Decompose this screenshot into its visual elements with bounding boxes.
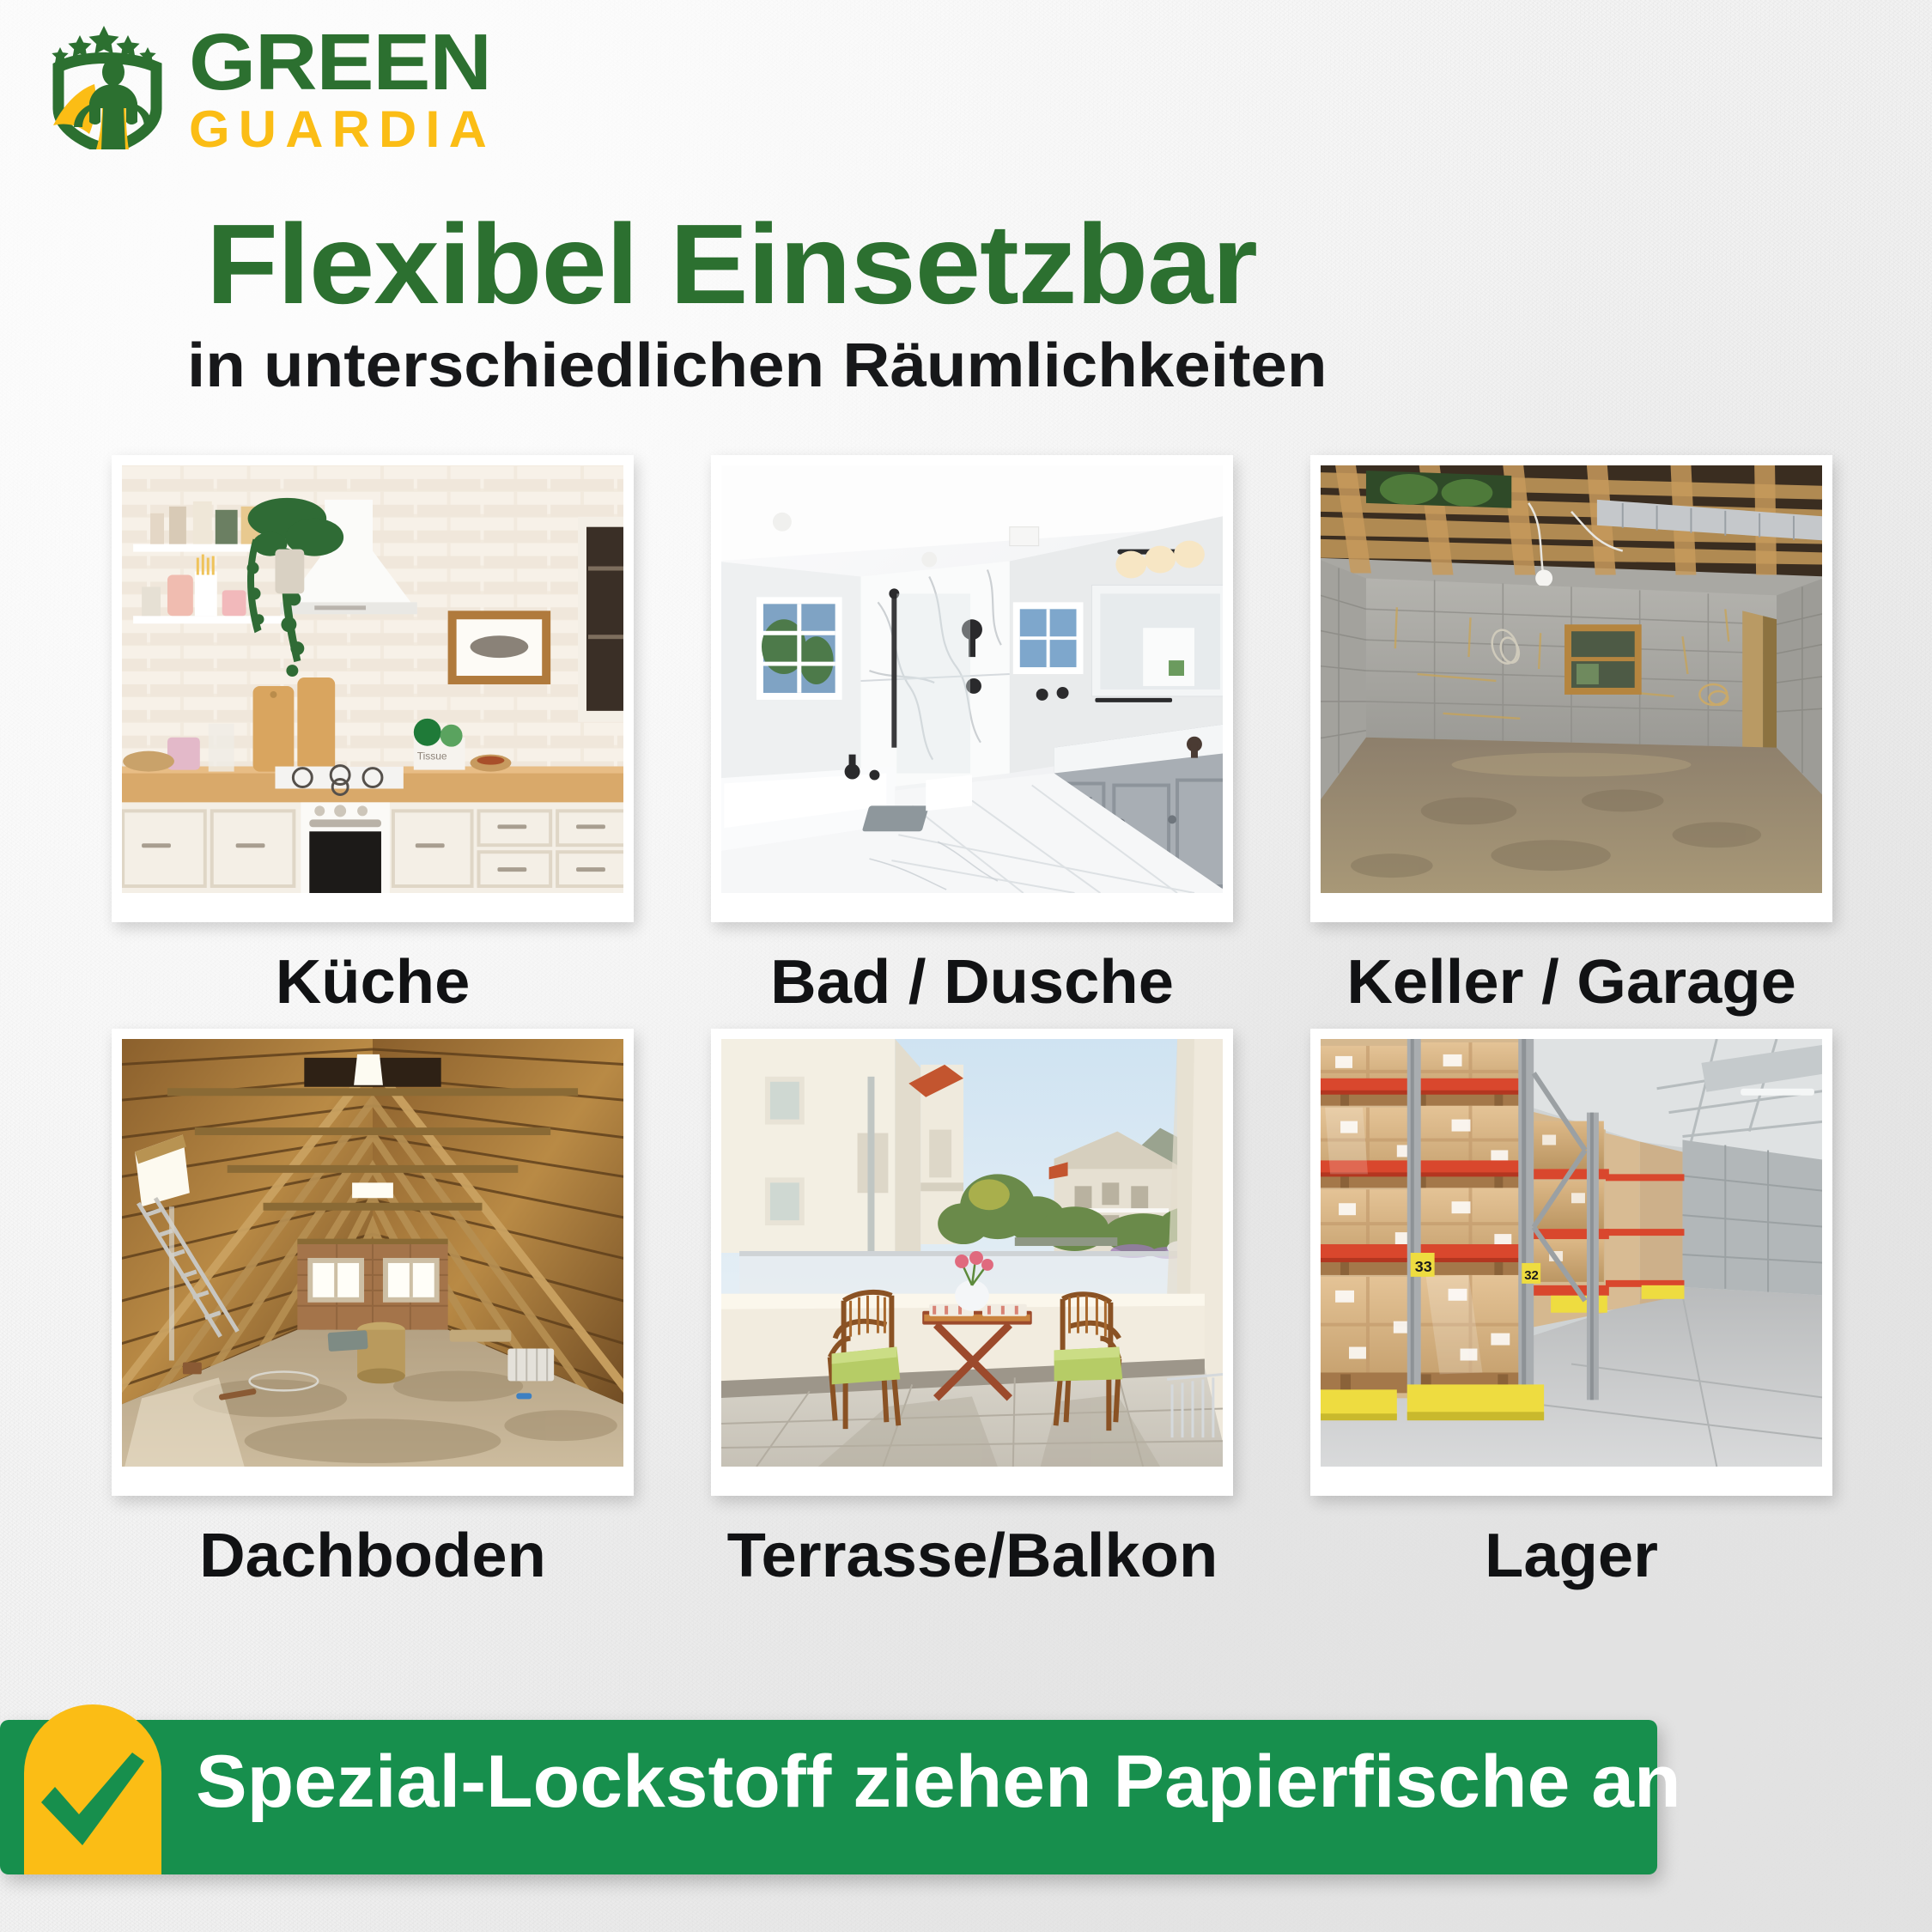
basement-garage-photo <box>1321 465 1822 893</box>
card-caption: Dachboden <box>199 1525 546 1587</box>
photo-card <box>711 455 1233 922</box>
banner-text: Spezial-Lockstoff ziehen Papierfische an <box>196 1704 1681 1859</box>
checkmark-icon <box>24 1704 161 1874</box>
svg-text:32: 32 <box>1524 1268 1539 1283</box>
grid-cell: Tissue <box>112 455 634 1013</box>
infographic-page: GREEN GUARDIA Flexibel Einsetzbar in unt… <box>0 0 1932 1932</box>
photo-card <box>711 1029 1233 1496</box>
grid-cell: Bad / Dusche <box>711 455 1233 1013</box>
brand-name-guardia: GUARDIA <box>189 103 495 155</box>
card-caption: Keller / Garage <box>1346 951 1796 1013</box>
brand-wordmark: GREEN GUARDIA <box>189 26 489 155</box>
card-caption: Lager <box>1485 1525 1658 1587</box>
card-caption: Küche <box>276 951 471 1013</box>
warehouse-photo: 33 32 <box>1321 1039 1822 1467</box>
grid-cell: Terrasse/Balkon <box>711 1029 1233 1587</box>
photo-card <box>1310 455 1832 922</box>
photo-card <box>112 1029 634 1496</box>
page-subtitle: in unterschiedlichen Räumlichkeiten <box>187 335 1327 397</box>
photo-card: 33 32 <box>1310 1029 1832 1496</box>
kitchen-photo: Tissue <box>122 465 623 893</box>
svg-text:Tissue: Tissue <box>417 750 447 762</box>
grid-cell: Dachboden <box>112 1029 634 1587</box>
brand-name-green: GREEN <box>189 26 513 100</box>
page-title: Flexibel Einsetzbar <box>206 208 1257 321</box>
card-caption: Bad / Dusche <box>770 951 1174 1013</box>
shield-superhero-stars-icon <box>41 19 179 149</box>
attic-photo <box>122 1039 623 1467</box>
brand-logo: GREEN GUARDIA <box>41 19 539 156</box>
balcony-photo <box>721 1039 1223 1467</box>
grid-cell: 33 32 Lager <box>1310 1029 1832 1587</box>
bathroom-photo <box>721 465 1223 893</box>
grid-cell: Keller / Garage <box>1310 455 1832 1013</box>
room-type-grid: Tissue <box>112 455 1829 1587</box>
benefit-banner: Spezial-Lockstoff ziehen Papierfische an <box>0 1704 1657 1876</box>
svg-text:33: 33 <box>1415 1258 1432 1275</box>
card-caption: Terrasse/Balkon <box>726 1525 1218 1587</box>
photo-card: Tissue <box>112 455 634 922</box>
